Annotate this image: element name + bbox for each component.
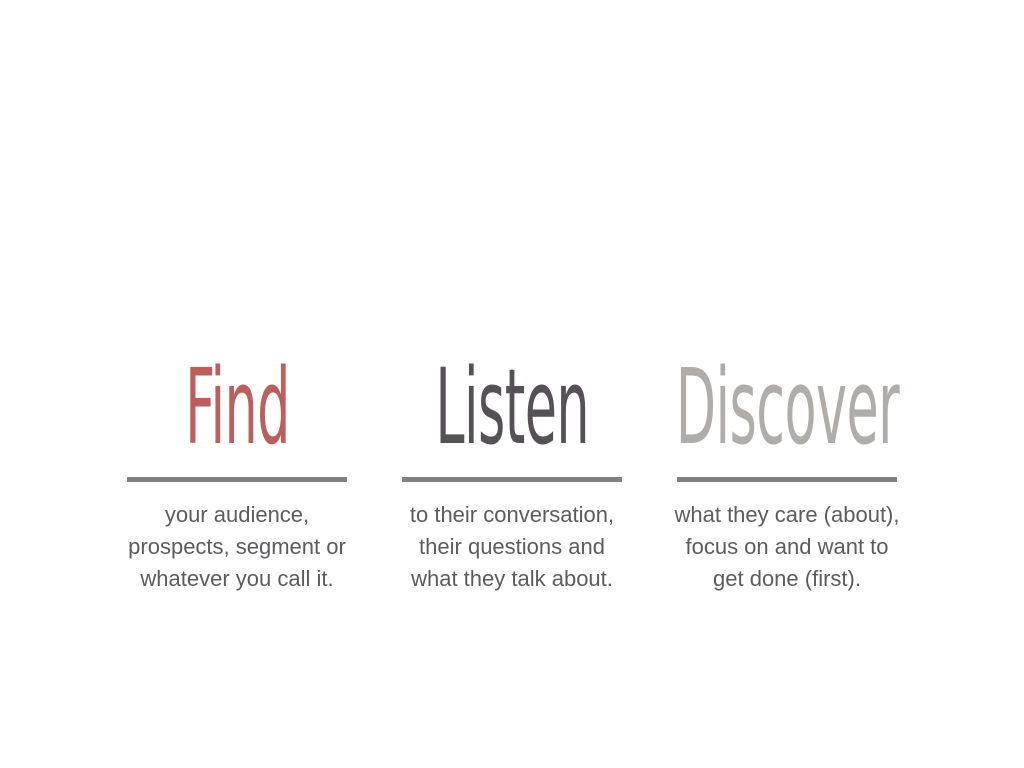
heading-discover: Discover [675, 358, 898, 458]
heading-listen: Listen [435, 358, 589, 458]
body-text-listen: to their conversation, their questions a… [396, 499, 628, 595]
three-column-layout: Find your audience, prospects, segment o… [0, 330, 1024, 595]
body-text-find: your audience, prospects, segment or wha… [121, 499, 353, 595]
divider-find [127, 477, 347, 482]
divider-listen [402, 477, 622, 482]
divider-discover [677, 477, 897, 482]
column-find: Find your audience, prospects, segment o… [100, 330, 375, 595]
slide-canvas: Find your audience, prospects, segment o… [0, 0, 1024, 768]
heading-find: Find [185, 358, 290, 458]
heading-wrap-discover: Discover [650, 330, 925, 458]
body-text-discover: what they care (about), focus on and wan… [671, 499, 903, 595]
heading-wrap-find: Find [100, 330, 375, 458]
column-discover: Discover what they care (about), focus o… [650, 330, 925, 595]
heading-wrap-listen: Listen [375, 330, 650, 458]
column-listen: Listen to their conversation, their ques… [375, 330, 650, 595]
